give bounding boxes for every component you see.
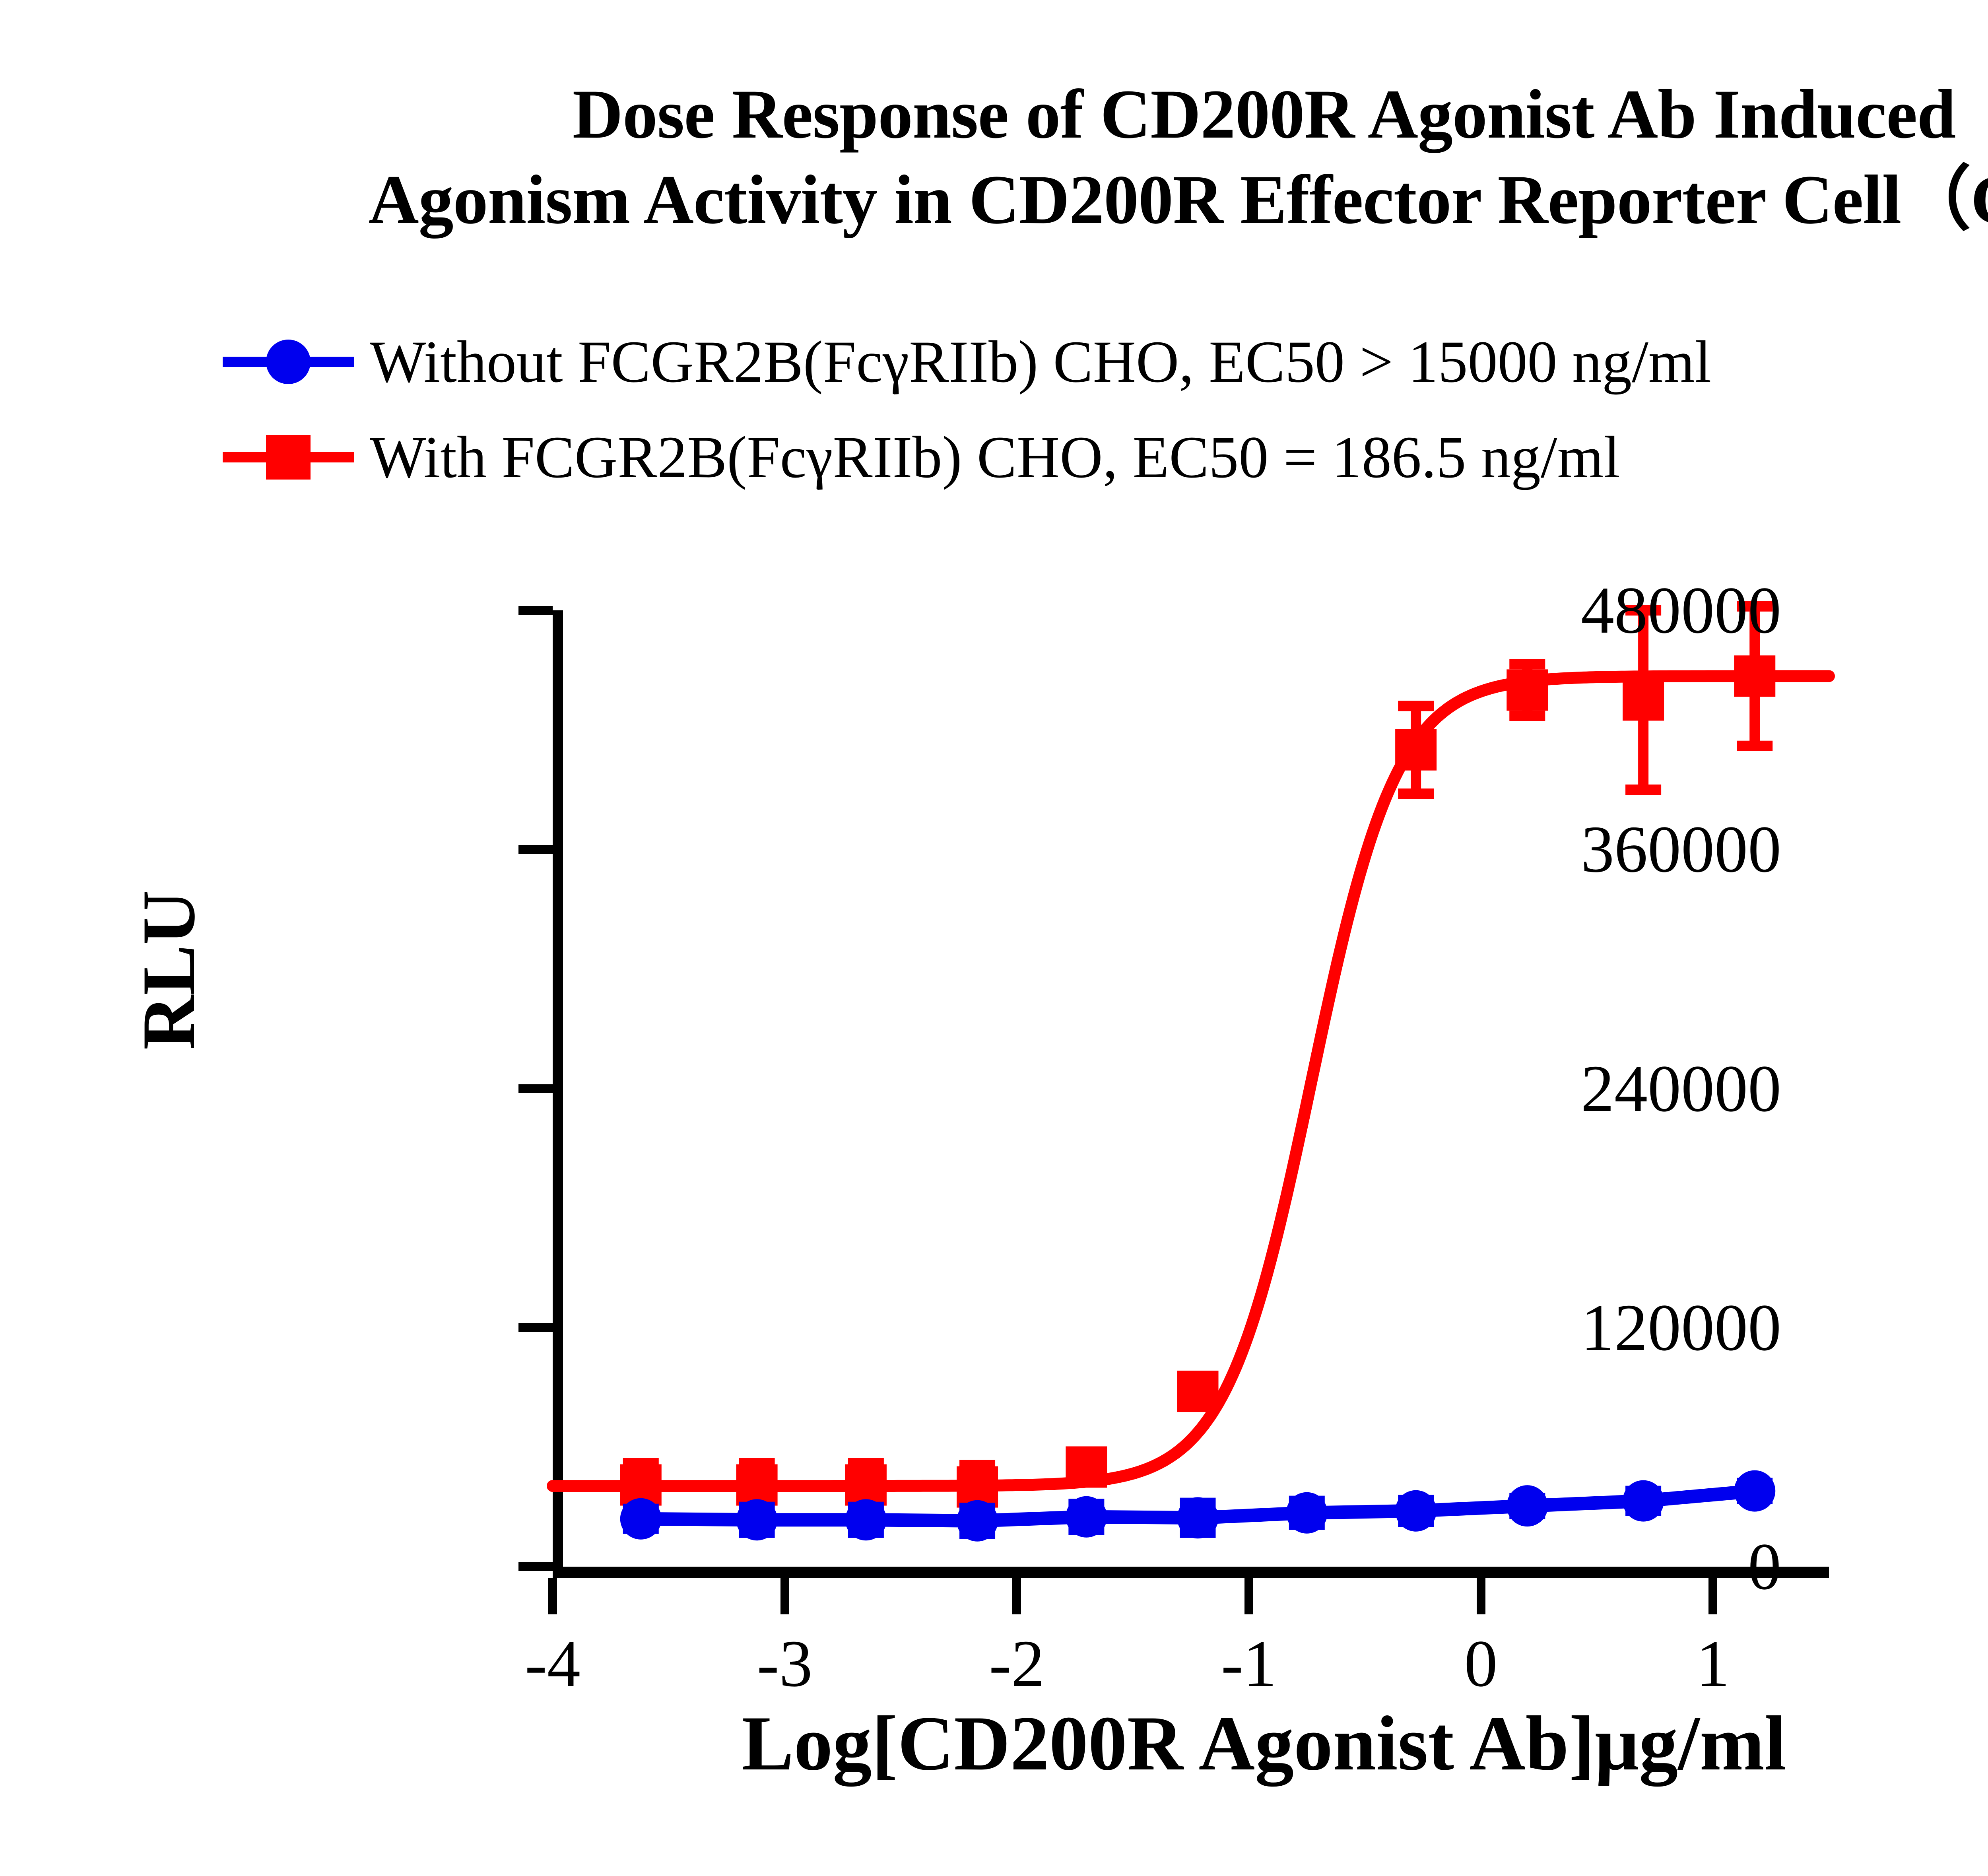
- plot-area: 0120000240000360000480000-4-3-2-101: [553, 573, 1829, 1610]
- data-point-circle: [845, 1499, 887, 1540]
- data-point-circle: [1507, 1485, 1548, 1526]
- x-axis-tick-label: -2: [989, 1630, 1044, 1697]
- x-axis-tick: [1244, 1578, 1253, 1614]
- legend-label-without-fcgr2b: Without FCGR2B(FcγRIIb) CHO, EC50 > 1500…: [354, 332, 1711, 392]
- y-axis-tick: [518, 606, 553, 615]
- x-axis-tick: [548, 1578, 557, 1614]
- y-axis-tick: [518, 845, 553, 854]
- legend-marker-circle-icon: [266, 340, 311, 384]
- y-axis-tick-label: 480000: [1581, 577, 1781, 644]
- data-point-square: [1177, 1371, 1219, 1412]
- legend-key-circle-icon: [223, 338, 354, 386]
- data-point-square: [1507, 669, 1548, 711]
- chart-title-line-1: Dose Response of CD200R Agonist Ab Induc…: [0, 72, 1988, 157]
- x-axis-tick: [1012, 1578, 1021, 1614]
- legend-item-without-fcgr2b: Without FCGR2B(FcγRIIb) CHO, EC50 > 1500…: [223, 314, 1988, 410]
- data-point-circle: [1066, 1496, 1107, 1538]
- y-axis-tick-label: 120000: [1581, 1294, 1781, 1361]
- x-axis-tick: [780, 1578, 789, 1614]
- data-point-circle: [736, 1499, 778, 1540]
- data-point-circle: [1623, 1480, 1664, 1522]
- data-point-circle: [620, 1498, 662, 1540]
- y-axis-tick: [518, 1084, 553, 1093]
- y-axis-tick-label: 240000: [1581, 1055, 1781, 1122]
- figure-root: Dose Response of CD200R Agonist Ab Induc…: [0, 0, 1988, 1876]
- x-axis-tick: [1477, 1578, 1485, 1614]
- x-axis-title: Log[CD200R Agonist Ab]μg/ml: [0, 1698, 1988, 1789]
- y-axis-title: RLU: [131, 890, 207, 1050]
- data-point-circle: [1395, 1490, 1437, 1532]
- chart-title-line-2: Agonism Activity in CD200R Effector Repo…: [0, 157, 1988, 243]
- data-point-square: [1395, 729, 1437, 771]
- legend-item-with-fcgr2b: With FCGR2B(FcγRIIb) CHO, EC50 = 186.5 n…: [223, 410, 1988, 505]
- data-point-square: [1734, 655, 1775, 697]
- x-axis-tick-label: -3: [757, 1630, 813, 1697]
- legend-marker-square-icon: [266, 435, 311, 480]
- x-axis-tick: [1708, 1578, 1717, 1614]
- data-point-circle: [1734, 1470, 1775, 1512]
- x-axis-tick-label: 1: [1696, 1630, 1730, 1697]
- data-point-circle: [1286, 1492, 1328, 1534]
- x-axis-tick-label: 0: [1464, 1630, 1498, 1697]
- x-axis-tick-label: -1: [1221, 1630, 1277, 1697]
- chart-legend: Without FCGR2B(FcγRIIb) CHO, EC50 > 1500…: [223, 314, 1988, 505]
- y-axis-tick-label: 360000: [1581, 816, 1781, 883]
- y-axis-tick: [518, 1562, 553, 1571]
- chart-title: Dose Response of CD200R Agonist Ab Induc…: [0, 72, 1988, 243]
- y-axis-tick: [518, 1323, 553, 1332]
- legend-key-square-icon: [223, 433, 354, 481]
- data-point-circle: [1177, 1497, 1219, 1538]
- y-axis-tick-label: 0: [1748, 1533, 1781, 1600]
- data-point-square: [1623, 679, 1664, 720]
- data-point-circle: [957, 1500, 998, 1542]
- data-point-square: [1066, 1446, 1107, 1488]
- x-axis-tick-label: -4: [525, 1630, 580, 1697]
- legend-label-with-fcgr2b: With FCGR2B(FcγRIIb) CHO, EC50 = 186.5 n…: [354, 427, 1620, 487]
